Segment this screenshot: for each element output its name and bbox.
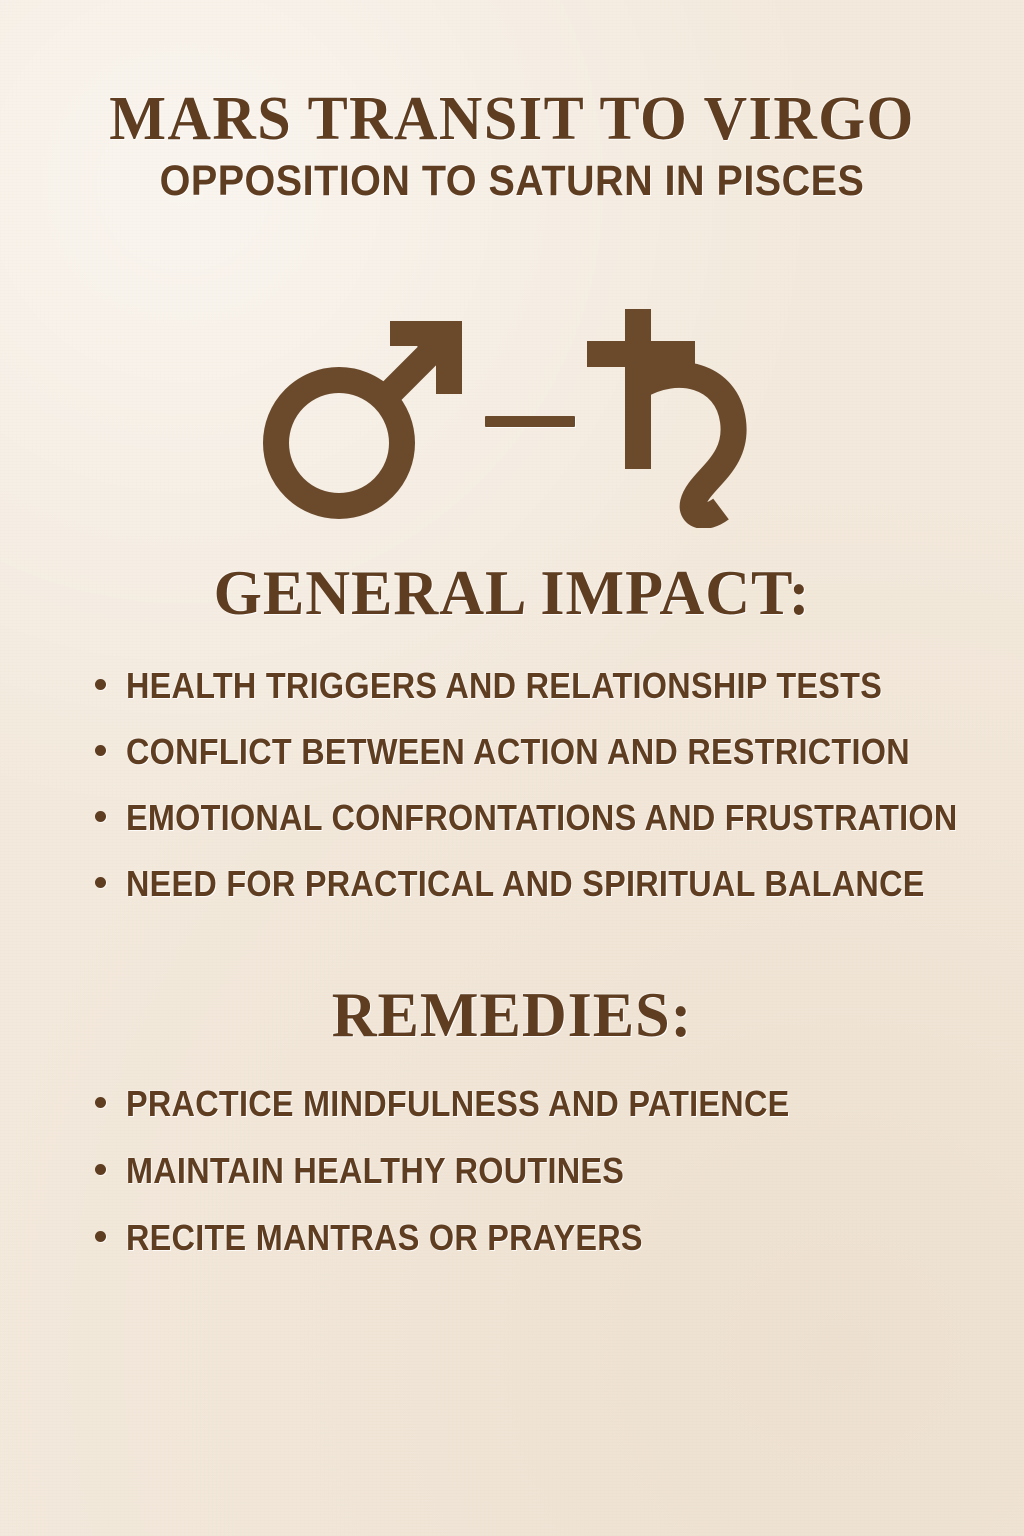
mars-glyph-icon	[259, 308, 479, 523]
bullet-dot-icon	[95, 877, 106, 888]
section-heading-general-impact: GENERAL IMPACT:	[15, 556, 1008, 630]
page-subtitle: OPPOSITION TO SATURN IN PISCES	[41, 159, 983, 204]
remedies-list: PRACTICE MINDFULNESS AND PATIENCE MAINTA…	[95, 1086, 995, 1287]
dash-separator-icon	[485, 416, 575, 427]
page-title: MARS TRANSIT TO VIRGO	[15, 88, 1008, 151]
bullet-dot-icon	[95, 1231, 106, 1242]
bullet-dot-icon	[95, 745, 106, 756]
list-item-label: EMOTIONAL CONFRONTATIONS AND FRUSTRATION	[126, 800, 958, 836]
list-item-label: NEED FOR PRACTICAL AND SPIRITUAL BALANCE	[126, 866, 925, 902]
planet-glyph-row	[0, 300, 1024, 530]
bullet-dot-icon	[95, 811, 106, 822]
list-item: CONFLICT BETWEEN ACTION AND RESTRICTION	[95, 734, 995, 800]
list-item-label: CONFLICT BETWEEN ACTION AND RESTRICTION	[126, 734, 910, 770]
list-item-label: MAINTAIN HEALTHY ROUTINES	[126, 1153, 624, 1189]
bullet-dot-icon	[95, 1097, 106, 1108]
bullet-dot-icon	[95, 679, 106, 690]
list-item-label: HEALTH TRIGGERS AND RELATIONSHIP TESTS	[126, 668, 882, 704]
header-block: MARS TRANSIT TO VIRGO OPPOSITION TO SATU…	[0, 88, 1024, 204]
list-item: EMOTIONAL CONFRONTATIONS AND FRUSTRATION	[95, 800, 995, 866]
general-impact-list: HEALTH TRIGGERS AND RELATIONSHIP TESTS C…	[95, 668, 995, 932]
list-item-label: PRACTICE MINDFULNESS AND PATIENCE	[126, 1086, 790, 1122]
list-item: NEED FOR PRACTICAL AND SPIRITUAL BALANCE	[95, 866, 995, 932]
saturn-glyph-icon	[581, 303, 766, 528]
bullet-dot-icon	[95, 1164, 106, 1175]
list-item: PRACTICE MINDFULNESS AND PATIENCE	[95, 1086, 995, 1153]
poster-canvas: MARS TRANSIT TO VIRGO OPPOSITION TO SATU…	[0, 0, 1024, 1536]
list-item: RECITE MANTRAS OR PRAYERS	[95, 1220, 995, 1287]
list-item: MAINTAIN HEALTHY ROUTINES	[95, 1153, 995, 1220]
list-item-label: RECITE MANTRAS OR PRAYERS	[126, 1220, 643, 1256]
section-heading-remedies: REMEDIES:	[15, 978, 1008, 1052]
list-item: HEALTH TRIGGERS AND RELATIONSHIP TESTS	[95, 668, 995, 734]
